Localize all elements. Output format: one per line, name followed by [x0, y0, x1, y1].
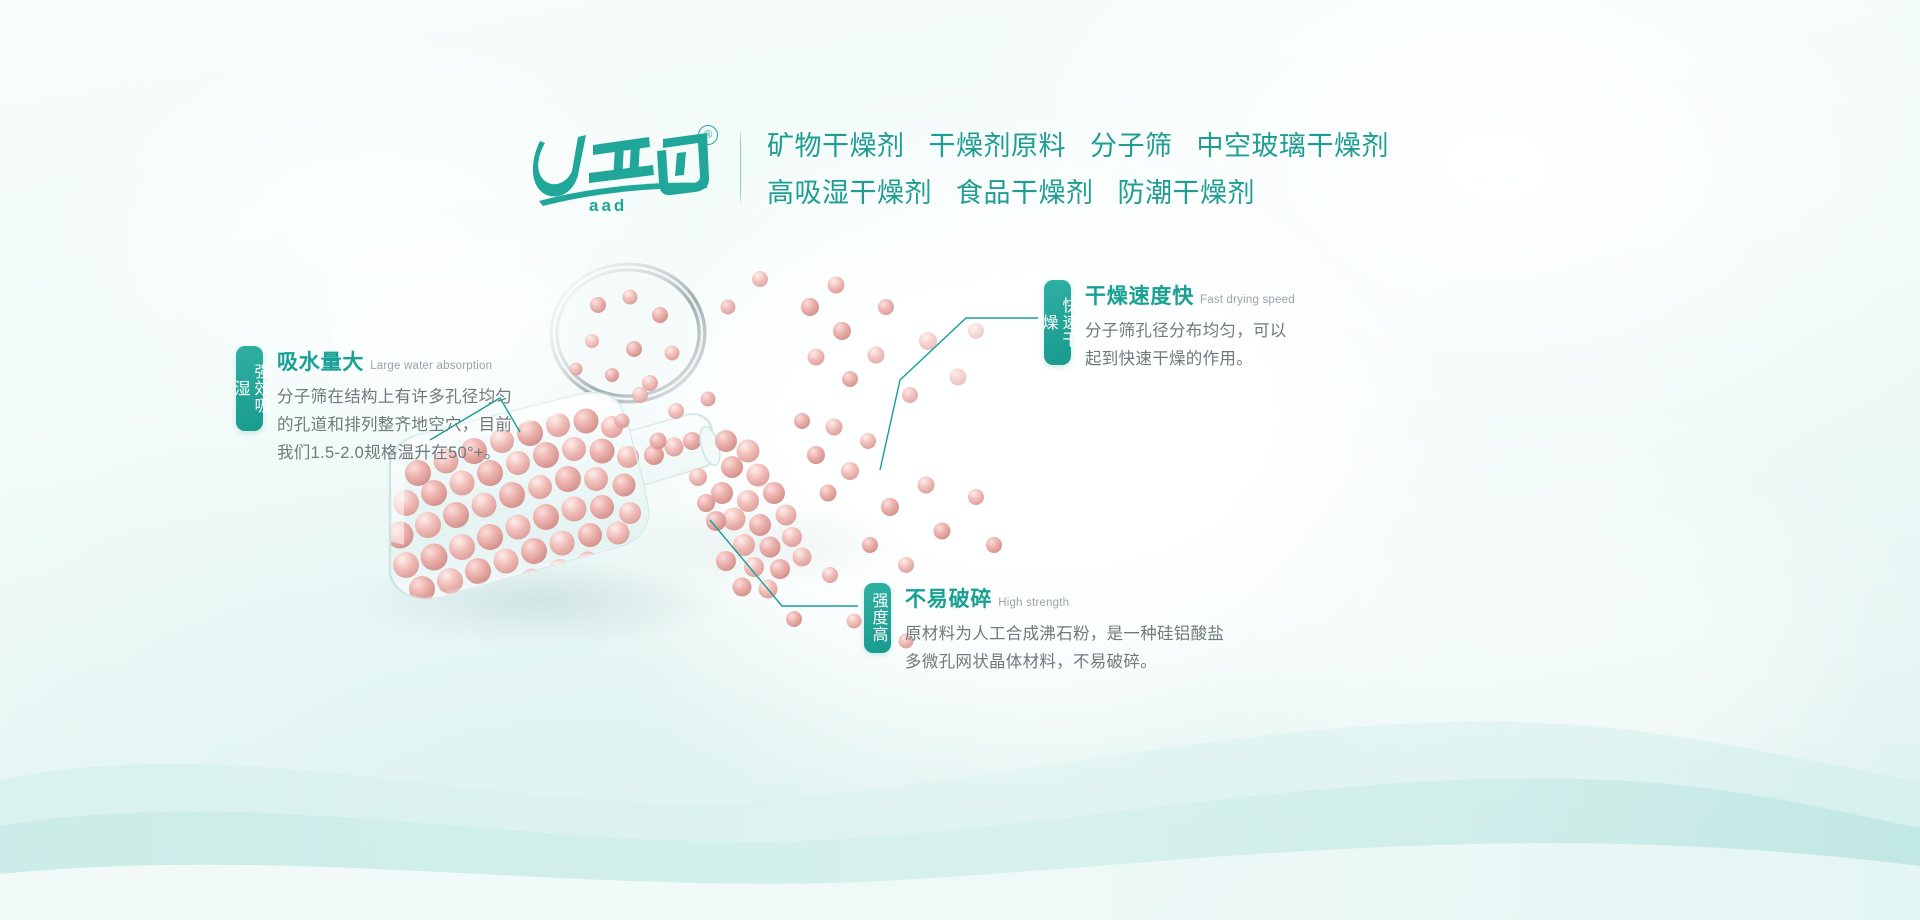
callout-description: 分子筛孔径分布均匀，可以 起到快速干燥的作用。: [1085, 317, 1295, 373]
nav-item-food-desiccant[interactable]: 食品干燥剂: [956, 171, 1094, 210]
nav-item-mineral-desiccant[interactable]: 矿物干燥剂: [767, 124, 905, 163]
callout-heading: 不易破碎 High strength: [905, 583, 1224, 613]
header-divider: [740, 130, 741, 204]
callout-subtitle: High strength: [998, 597, 1069, 609]
callout-description: 分子筛在结构上有许多孔径均匀 的孔道和排列整齐地空穴，目前 我们1.5-2.0规…: [277, 383, 512, 467]
nav-item-desiccant-material[interactable]: 干燥剂原料: [929, 124, 1067, 163]
nav-item-insulating-glass-desiccant[interactable]: 中空玻璃干燥剂: [1197, 124, 1390, 163]
site-header: aad ® 矿物干燥剂 干燥剂原料 分子筛 中空玻璃干燥剂 高吸湿干燥剂 食品干…: [0, 112, 1920, 222]
callout-badge-fast-drying: 快速干燥: [1044, 280, 1071, 365]
callout-heading: 干燥速度快 Fast drying speed: [1085, 280, 1295, 310]
banner-stage: aad ® 矿物干燥剂 干燥剂原料 分子筛 中空玻璃干燥剂 高吸湿干燥剂 食品干…: [0, 0, 1920, 920]
nav-item-high-absorption-desiccant[interactable]: 高吸湿干燥剂: [767, 171, 932, 210]
callout-description: 原材料为人工合成沸石粉，是一种硅铝酸盐 多微孔网状晶体材料，不易破碎。: [905, 620, 1224, 676]
callout-body: 干燥速度快 Fast drying speed 分子筛孔径分布均匀，可以 起到快…: [1071, 280, 1295, 373]
callout-high-strength: 强度高 不易破碎 High strength 原材料为人工合成沸石粉，是一种硅铝…: [864, 583, 1224, 676]
nav-row-1: 矿物干燥剂 干燥剂原料 分子筛 中空玻璃干燥剂: [767, 124, 1389, 163]
brand-logo[interactable]: aad ®: [531, 121, 716, 213]
callout-large-water-absorption: 强效吸湿 吸水量大 Large water absorption 分子筛在结构上…: [236, 346, 512, 467]
callout-title: 吸水量大: [277, 346, 364, 376]
nav-row-2: 高吸湿干燥剂 食品干燥剂 防潮干燥剂: [767, 171, 1389, 210]
logo-wordmark: aad: [589, 196, 627, 213]
main-navigation: 矿物干燥剂 干燥剂原料 分子筛 中空玻璃干燥剂 高吸湿干燥剂 食品干燥剂 防潮干…: [767, 124, 1389, 210]
logo-mark-icon: aad: [531, 121, 716, 213]
callout-badge-high-strength: 强度高: [864, 583, 891, 653]
registered-trademark-icon: ®: [698, 125, 718, 145]
callout-title: 不易破碎: [905, 583, 992, 613]
nav-item-molecular-sieve[interactable]: 分子筛: [1090, 124, 1173, 163]
callout-subtitle: Fast drying speed: [1200, 294, 1295, 306]
callout-title: 干燥速度快: [1085, 280, 1194, 310]
callout-fast-drying-speed: 快速干燥 干燥速度快 Fast drying speed 分子筛孔径分布均匀，可…: [1044, 280, 1295, 373]
callout-subtitle: Large water absorption: [370, 360, 492, 372]
callout-heading: 吸水量大 Large water absorption: [277, 346, 512, 376]
callout-badge-strong-absorption: 强效吸湿: [236, 346, 263, 431]
nav-item-moisture-proof-desiccant[interactable]: 防潮干燥剂: [1118, 171, 1256, 210]
callout-body: 吸水量大 Large water absorption 分子筛在结构上有许多孔径…: [263, 346, 512, 467]
callout-body: 不易破碎 High strength 原材料为人工合成沸石粉，是一种硅铝酸盐 多…: [891, 583, 1224, 676]
